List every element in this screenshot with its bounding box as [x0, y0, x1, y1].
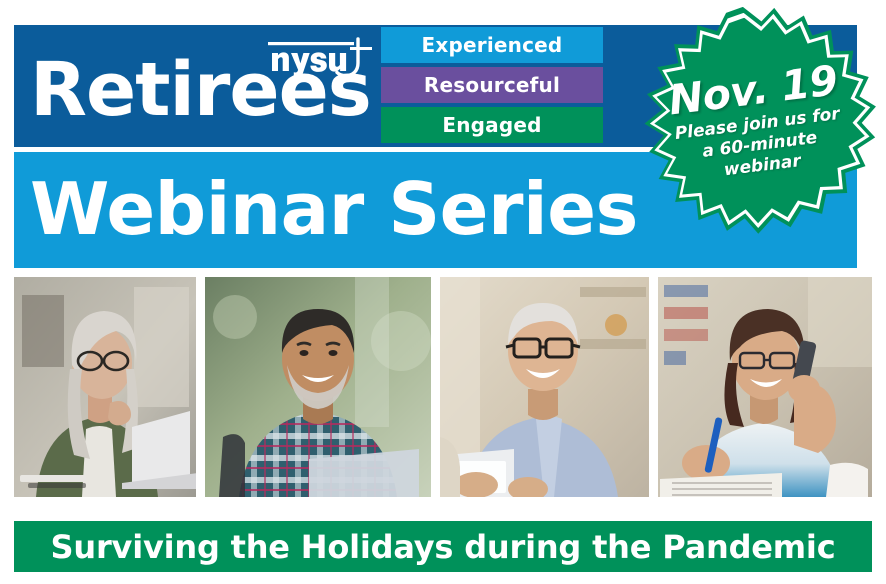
tag-resourceful: Resourceful [381, 67, 603, 103]
photo-man-with-tablet [440, 277, 649, 497]
webinar-topic-title: Surviving the Holidays during the Pandem… [51, 528, 836, 566]
photo-woman-at-laptop [14, 277, 196, 497]
webinar-promo-poster: Retirees Experienced Resourceful [0, 0, 886, 584]
footer-band: Surviving the Holidays during the Pandem… [14, 521, 872, 572]
photo-woman-on-phone [658, 277, 872, 497]
photo-man-in-plaid [205, 277, 431, 497]
tag-experienced: Experienced [381, 27, 603, 63]
date-badge: Nov. 19 Please join us for a 60-minute w… [618, 0, 886, 252]
nysut-logo [266, 31, 376, 83]
photo-strip [14, 277, 872, 497]
series-title: Webinar Series [30, 168, 638, 250]
attribute-tags: Experienced Resourceful Engaged [381, 27, 603, 143]
date-badge-text: Nov. 19 Please join us for a 60-minute w… [618, 0, 886, 252]
tag-engaged: Engaged [381, 107, 603, 143]
